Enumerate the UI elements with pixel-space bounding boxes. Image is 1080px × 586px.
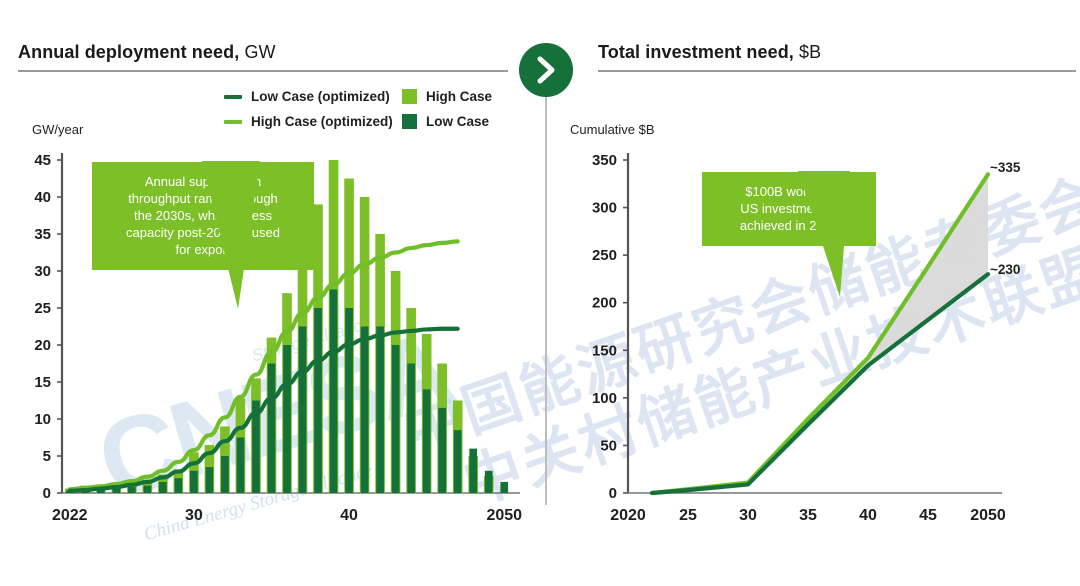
left-callout: Annual supply chain throughput ramps thr… bbox=[92, 162, 314, 270]
svg-text:250: 250 bbox=[592, 247, 617, 264]
svg-text:2020: 2020 bbox=[610, 507, 646, 524]
svg-text:2022: 2022 bbox=[52, 507, 88, 524]
panel-total-investment: Total investment need, $B Low Case High … bbox=[556, 0, 1080, 586]
panel-divider bbox=[545, 55, 547, 505]
svg-text:2050: 2050 bbox=[970, 507, 1006, 524]
svg-text:150: 150 bbox=[592, 342, 617, 359]
svg-text:40: 40 bbox=[340, 507, 358, 524]
left-callout-tail bbox=[202, 161, 332, 311]
svg-text:50: 50 bbox=[600, 437, 617, 454]
slide-root: CNESA China Energy Storage Alliance Stor… bbox=[0, 0, 1080, 586]
svg-text:30: 30 bbox=[739, 507, 757, 524]
svg-text:40: 40 bbox=[859, 507, 877, 524]
svg-text:300: 300 bbox=[592, 200, 617, 217]
svg-text:10: 10 bbox=[34, 411, 51, 428]
svg-text:200: 200 bbox=[592, 295, 617, 312]
svg-text:30: 30 bbox=[34, 263, 51, 280]
svg-text:20: 20 bbox=[34, 337, 51, 354]
svg-text:35: 35 bbox=[34, 226, 51, 243]
svg-text:30: 30 bbox=[185, 507, 203, 524]
svg-text:45: 45 bbox=[34, 152, 51, 169]
end-label-low-case: ~230 bbox=[990, 262, 1020, 277]
panel-annual-deployment: Annual deployment need, GW Low Case (opt… bbox=[0, 0, 530, 586]
svg-text:100: 100 bbox=[592, 390, 617, 407]
svg-text:25: 25 bbox=[34, 300, 51, 317]
svg-text:5: 5 bbox=[43, 448, 51, 465]
svg-text:40: 40 bbox=[34, 189, 51, 206]
svg-text:350: 350 bbox=[592, 152, 617, 169]
svg-text:2050: 2050 bbox=[486, 507, 522, 524]
end-label-high-case: ~335 bbox=[990, 160, 1020, 175]
svg-text:25: 25 bbox=[679, 507, 697, 524]
svg-text:0: 0 bbox=[43, 485, 51, 502]
svg-text:0: 0 bbox=[609, 485, 617, 502]
svg-text:15: 15 bbox=[34, 374, 51, 391]
right-callout: $100B worth of US investment is achieved… bbox=[702, 172, 876, 246]
svg-text:45: 45 bbox=[919, 507, 937, 524]
right-callout-tail bbox=[798, 171, 928, 301]
chevron-right-icon[interactable] bbox=[519, 43, 573, 97]
svg-text:35: 35 bbox=[799, 507, 817, 524]
